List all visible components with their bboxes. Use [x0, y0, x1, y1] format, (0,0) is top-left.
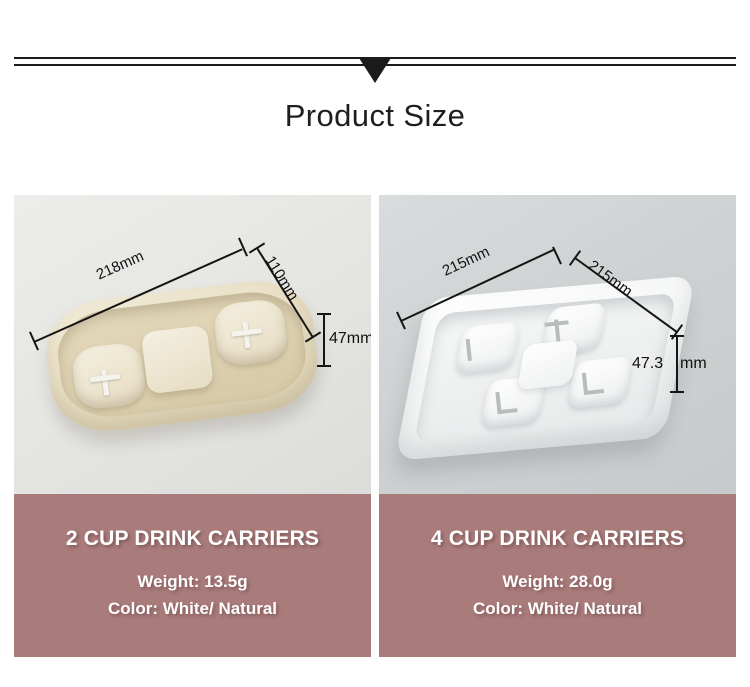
dimension-cap — [317, 313, 331, 315]
caption-color: Color: White/ Natural — [473, 596, 642, 622]
dimension-cap — [670, 335, 684, 337]
product-photo-4-cup: 215mm 215mm 47.3 mm — [379, 195, 736, 494]
dimension-line-height — [676, 335, 678, 393]
caption-weight: Weight: 28.0g — [502, 569, 612, 595]
caption-weight: Weight: 13.5g — [137, 569, 247, 595]
dimension-cap — [238, 237, 248, 256]
product-photo-2-cup: 218mm 110mm 47mm — [14, 195, 371, 494]
dimension-cap — [317, 365, 331, 367]
dimension-label-height-unit: mm — [680, 355, 707, 373]
dimension-cap — [249, 242, 265, 253]
dimension-label-height: 47.3 — [632, 355, 663, 373]
dimension-cap — [670, 391, 684, 393]
dimension-label-length: 218mm — [94, 248, 147, 284]
dimension-line-height — [323, 313, 325, 367]
dimension-cap — [552, 246, 562, 264]
cup-carrier-2-illustration — [41, 274, 323, 438]
caption-title: 2 CUP DRINK CARRIERS — [66, 527, 319, 551]
caption-2-cup: 2 CUP DRINK CARRIERS Weight: 13.5g Color… — [14, 494, 371, 657]
tray-bridge — [141, 325, 214, 395]
product-card-2-cup[interactable]: 218mm 110mm 47mm 2 CUP DRINK CARRIERS We… — [14, 195, 371, 657]
caption-color: Color: White/ Natural — [108, 596, 277, 622]
product-card-4-cup[interactable]: 215mm 215mm 47.3 mm 4 CUP DRINK CARRIERS… — [379, 195, 736, 657]
product-card-grid: 218mm 110mm 47mm 2 CUP DRINK CARRIERS We… — [14, 195, 736, 657]
caption-4-cup: 4 CUP DRINK CARRIERS Weight: 28.0g Color… — [379, 494, 736, 657]
dimension-label-height: 47mm — [329, 330, 371, 348]
triangle-down-icon — [359, 58, 391, 83]
caption-title: 4 CUP DRINK CARRIERS — [431, 527, 684, 551]
page-title: Product Size — [0, 98, 750, 134]
header-banner: Product Size — [0, 0, 750, 160]
